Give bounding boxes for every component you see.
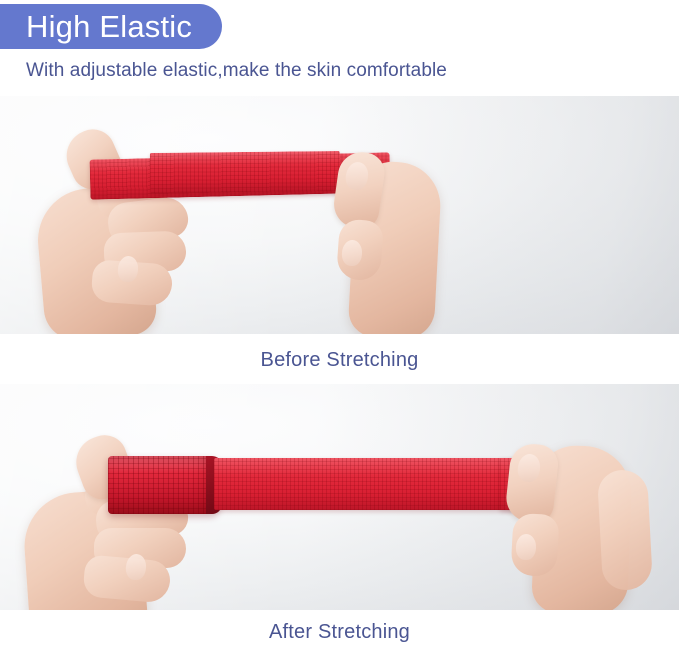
photo-panel-before xyxy=(0,96,679,334)
feature-badge-label: High Elastic xyxy=(26,11,192,42)
photo-panel-after xyxy=(0,384,679,610)
bandage-tape-before-end xyxy=(150,151,340,193)
caption-before: Before Stretching xyxy=(0,348,679,372)
caption-after: After Stretching xyxy=(0,620,679,644)
product-feature-image: High Elastic With adjustable elastic,mak… xyxy=(0,0,679,650)
feature-subtitle: With adjustable elastic,make the skin co… xyxy=(26,59,447,83)
bandage-tape-stretched xyxy=(214,458,526,510)
feature-badge: High Elastic xyxy=(0,4,222,49)
bandage-roll-after xyxy=(108,456,220,514)
